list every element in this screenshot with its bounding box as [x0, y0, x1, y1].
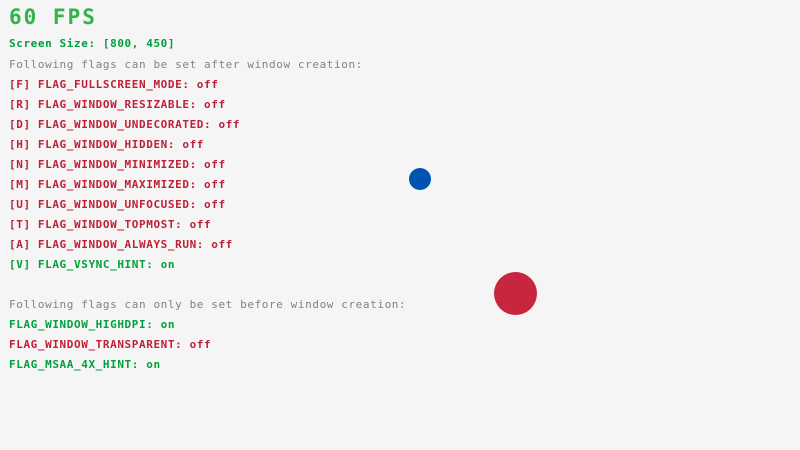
red-ball [494, 272, 537, 315]
raylib-window-flags-demo: 60 FPS Screen Size: [800, 450] Following… [0, 0, 800, 450]
blue-ball [409, 168, 431, 190]
flag-section-header: Following flags can be set after window … [9, 59, 363, 70]
flag-row-flag-window-undecorated[interactable]: [D] FLAG_WINDOW_UNDECORATED: off [9, 119, 240, 130]
flag-section-header: Following flags can only be set before w… [9, 299, 406, 310]
flag-row-flag-window-topmost[interactable]: [T] FLAG_WINDOW_TOPMOST: off [9, 219, 211, 230]
flag-row-flag-msaa-4x-hint[interactable]: FLAG_MSAA_4X_HINT: on [9, 359, 161, 370]
flag-row-flag-window-unfocused[interactable]: [U] FLAG_WINDOW_UNFOCUSED: off [9, 199, 226, 210]
flag-row-flag-window-always-run[interactable]: [A] FLAG_WINDOW_ALWAYS_RUN: off [9, 239, 233, 250]
flag-row-flag-window-maximized[interactable]: [M] FLAG_WINDOW_MAXIMIZED: off [9, 179, 226, 190]
flag-row-flag-window-highdpi[interactable]: FLAG_WINDOW_HIGHDPI: on [9, 319, 175, 330]
flag-row-flag-window-minimized[interactable]: [N] FLAG_WINDOW_MINIMIZED: off [9, 159, 226, 170]
flag-row-flag-window-hidden[interactable]: [H] FLAG_WINDOW_HIDDEN: off [9, 139, 204, 150]
flag-row-flag-vsync-hint[interactable]: [V] FLAG_VSYNC_HINT: on [9, 259, 175, 270]
flag-row-flag-fullscreen-mode[interactable]: [F] FLAG_FULLSCREEN_MODE: off [9, 79, 218, 90]
flag-row-flag-window-transparent[interactable]: FLAG_WINDOW_TRANSPARENT: off [9, 339, 211, 350]
screen-size-label: Screen Size: [800, 450] [9, 38, 175, 49]
fps-counter: 60 FPS [9, 7, 97, 28]
flag-row-flag-window-resizable[interactable]: [R] FLAG_WINDOW_RESIZABLE: off [9, 99, 226, 110]
